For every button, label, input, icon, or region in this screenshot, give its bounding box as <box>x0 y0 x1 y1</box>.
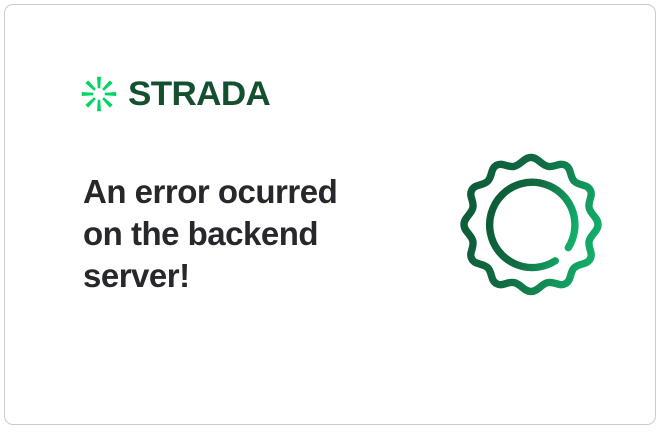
brand-wordmark: STRADA <box>128 77 270 111</box>
error-message: An error ocurred on the backend server! <box>83 171 373 297</box>
starburst-icon <box>81 76 117 112</box>
brand-logo: STRADA <box>81 76 266 112</box>
gear-icon <box>449 146 613 310</box>
error-card: STRADA An error ocurred on the backend s… <box>4 4 656 425</box>
